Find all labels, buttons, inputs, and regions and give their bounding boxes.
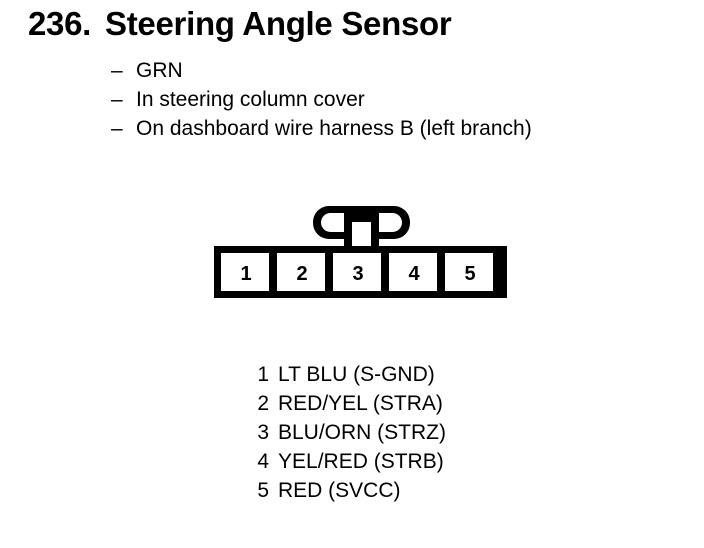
connector-cell-4 [389,253,437,291]
legend-row: 1LT BLU (S-GND) [245,360,446,389]
pin-legend: 1LT BLU (S-GND) 2RED/YEL (STRA) 3BLU/ORN… [245,360,446,505]
legend-row: 2RED/YEL (STRA) [245,389,446,418]
spec-list: –GRN –In steering column cover –On dashb… [111,56,691,143]
legend-pin-description: RED/YEL (STRA) [278,389,443,418]
page-title-number: 236. [28,5,91,42]
spec-item-label: On dashboard wire harness B (left branch… [136,117,532,140]
legend-pin-number: 4 [245,447,269,476]
connector-cell-5 [445,253,493,291]
connector-cell-3 [333,253,381,291]
spec-item-color: –GRN [111,56,691,85]
connector-pin-number-1: 1 [240,263,251,285]
spec-item-label: GRN [136,59,183,82]
latch-inner-void [321,213,402,232]
legend-pin-number: 3 [245,418,269,447]
latch-outer-bar [313,206,410,239]
connector-pin-number-2: 2 [296,263,307,285]
legend-row: 5RED (SVCC) [245,476,446,505]
connector-pin-number-5: 5 [464,263,475,285]
page-title-label: Steering Angle Sensor [105,5,451,42]
legend-row: 4YEL/RED (STRB) [245,447,446,476]
dash-icon: – [111,85,136,114]
legend-pin-number: 2 [245,389,269,418]
connector-cell-2 [277,253,325,291]
dash-icon: – [111,56,136,85]
dash-icon: – [111,114,136,143]
latch-stem-void [352,222,371,249]
connector-outer-frame [214,246,507,298]
legend-pin-description: RED (SVCC) [278,476,401,505]
connector-cell-1 [221,253,269,291]
legend-row: 3BLU/ORN (STRZ) [245,418,446,447]
connector-latch-tab [313,206,410,249]
spec-item-harness: –On dashboard wire harness B (left branc… [111,114,691,143]
connector-pin-number-4: 4 [408,263,420,285]
page-title: 236.Steering Angle Sensor [28,4,451,44]
legend-pin-description: YEL/RED (STRB) [278,447,444,476]
connector-pin-numbers: 1 2 3 4 5 [240,263,475,285]
legend-pin-number: 1 [245,360,269,389]
legend-pin-description: BLU/ORN (STRZ) [278,418,446,447]
latch-leg-left [344,222,352,249]
latch-stem [344,213,379,249]
latch-leg-right [371,222,379,249]
legend-pin-number: 5 [245,476,269,505]
spec-item-location: –In steering column cover [111,85,691,114]
connector-pin-number-3: 3 [352,263,363,285]
legend-pin-description: LT BLU (S-GND) [278,360,435,389]
spec-item-label: In steering column cover [136,88,365,111]
connector-body [214,246,507,298]
